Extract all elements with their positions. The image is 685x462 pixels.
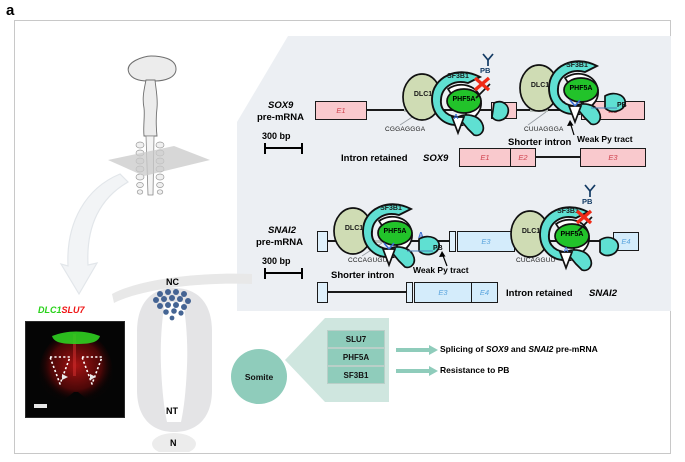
channel-label-red: SLU7	[62, 305, 85, 315]
legend-outcome-resistance: Resistance to PB	[440, 365, 509, 375]
legend-splicing-gene-a: SOX9	[486, 344, 509, 354]
sox9-branch-sequence-right: CUUAGGGA	[524, 126, 564, 133]
snai2-mrna-label: pre-mRNA	[256, 237, 303, 248]
snai2-retained-intron	[327, 291, 408, 293]
sox9-retained-exon-e2: E2	[510, 148, 536, 167]
snai2-retained-exon-edge	[406, 282, 413, 303]
legend-protein-sf3b1: SF3B1	[327, 366, 385, 384]
label-neural-crest: NC	[166, 277, 179, 287]
sox9-left-pb-label: PB	[480, 66, 490, 75]
legend-arrow-resistance	[396, 369, 430, 373]
snai2-gene-label: SNAI2	[268, 225, 296, 236]
figure-panel-a: a	[0, 0, 685, 462]
sox9-retained-exon-e1: E1	[459, 148, 511, 167]
sox9-left-sf3b1-label: SF3B1	[440, 73, 476, 80]
legend-splicing-gene-b: SNAI2	[528, 344, 553, 354]
label-neural-tube: NT	[166, 406, 178, 416]
sox9-mrna-label: pre-mRNA	[257, 112, 304, 123]
legend-splicing-mid: and	[509, 344, 529, 354]
channel-label-green: DLC1	[38, 305, 62, 315]
snai2-left-phf5a-label: PHF5A	[377, 228, 413, 235]
sox9-shorter-intron-label: Shorter intron	[508, 137, 571, 148]
sox9-retained-intron	[535, 156, 581, 158]
legend-splicing-suffix: pre-mRNA	[553, 344, 597, 354]
sox9-retained-label: Intron retained	[341, 153, 408, 164]
sox9-weak-py-label: Weak Py tract	[577, 134, 633, 144]
snai2-retained-exon-e4: E4	[471, 282, 498, 303]
snai2-scale-label: 300 bp	[262, 256, 291, 266]
sox9-exon-e1: E1	[315, 101, 367, 120]
sox9-retained-gene: SOX9	[423, 153, 448, 164]
snai2-scale-bar	[264, 268, 304, 280]
legend-outcome-splicing: Splicing of SOX9 and SNAI2 pre-mRNA	[440, 344, 598, 354]
sox9-scale-bar	[264, 143, 304, 155]
panel-label: a	[6, 2, 14, 19]
micrograph-channel-labels: DLC1SLU7	[38, 305, 85, 315]
sox9-retained-exon-e3: E3	[580, 148, 646, 167]
svg-text:A: A	[453, 114, 458, 121]
snai2-right-pb-label: PB	[582, 197, 592, 206]
sox9-right-pb-label: PB	[617, 102, 637, 109]
snai2-right-dlc1-label: DLC1	[516, 228, 546, 235]
sox9-right-phf5a-label: PHF5A	[563, 85, 599, 92]
legend-arrow-splicing	[396, 348, 430, 352]
snai2-left-dlc1-label: DLC1	[339, 225, 369, 232]
snai2-retained-exon-e3: E3	[414, 282, 472, 303]
snai2-left-pb-label: PB	[433, 245, 453, 252]
legend-protein-phf5a: PHF5A	[327, 348, 385, 366]
legend-protein-slu7: SLU7	[327, 330, 385, 348]
sox9-spliceosome-complex-right: DLC1 SF3B1 PHF5A PB	[513, 40, 631, 126]
label-notochord: N	[170, 438, 177, 448]
sox9-gene-label: SOX9	[268, 100, 293, 111]
somite-circle: Somite	[231, 349, 287, 404]
sox9-scale-label: 300 bp	[262, 131, 291, 141]
fluorescence-micrograph	[25, 321, 125, 418]
neural-tube-cross-section	[112, 272, 252, 452]
sox9-right-sf3b1-label: SF3B1	[559, 62, 595, 69]
snai2-shorter-intron-label: Shorter intron	[331, 270, 394, 281]
snai2-spliceosome-complex-left: DLC1 SF3B1 PHF5A PB	[327, 183, 445, 269]
snai2-left-sf3b1-label: SF3B1	[373, 205, 409, 212]
sox9-left-dlc1-label: DLC1	[408, 91, 438, 98]
snai2-retained-gene: SNAI2	[589, 288, 617, 299]
sox9-right-dlc1-label: DLC1	[525, 82, 555, 89]
micrograph-scale-bar	[34, 404, 47, 408]
snai2-retained-label: Intron retained	[506, 288, 573, 299]
legend-splicing-prefix: Splicing of	[440, 344, 486, 354]
svg-text:A: A	[563, 247, 568, 254]
